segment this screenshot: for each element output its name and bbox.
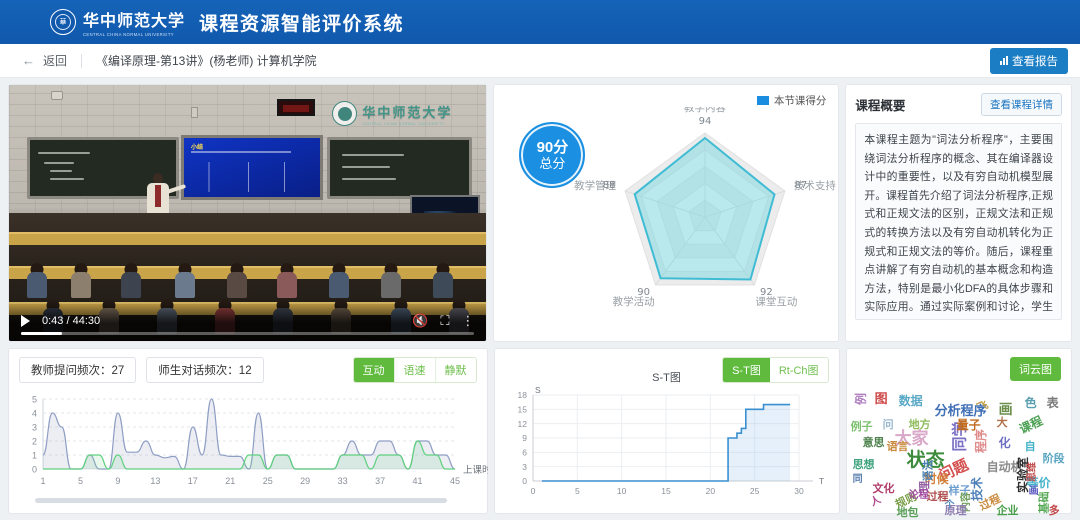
wordcloud-word: 大 (997, 417, 1008, 428)
svg-text:3: 3 (32, 423, 37, 433)
breadcrumb: 《编译原理-第13讲》(杨老师) 计算机学院 (96, 52, 317, 69)
wordcloud-word: 色 (1025, 397, 1037, 409)
projector-screen: 小结 (181, 135, 323, 200)
blackboard-right (327, 137, 472, 199)
score-label: 总分 (539, 156, 565, 171)
bottom-row: 教师提问频次：27 师生对话频次：12 互动 语速 静默 012345 1591… (8, 348, 1072, 514)
svg-text:94: 94 (699, 116, 712, 127)
svg-text:2: 2 (32, 437, 37, 447)
university-name-cn: 华中师范大学 (83, 11, 185, 30)
interaction-toolbar: 教师提问频次：27 师生对话频次：12 互动 语速 静默 (9, 349, 487, 383)
wordcloud-word: 文化 (873, 483, 895, 494)
video-watermark: 华中师范大学 CENTRAL CHINA NORMAL UNIVERSITY (332, 101, 452, 126)
university-name-en: CENTRAL CHINA NORMAL UNIVERSITY (83, 32, 185, 37)
svg-text:S: S (535, 385, 541, 395)
seal-inner-glyph: 華 (55, 14, 71, 30)
wordcloud-word: 企业 (997, 505, 1019, 516)
svg-text:12: 12 (517, 419, 527, 429)
legend-color-swatch (757, 96, 769, 105)
volume-muted-icon[interactable]: 🔇 (412, 313, 428, 329)
arrow-left-icon[interactable]: ← (22, 53, 35, 68)
stat-dialogues: 师生对话频次：12 (146, 357, 263, 383)
svg-text:30: 30 (794, 486, 804, 496)
svg-text:18: 18 (517, 390, 527, 400)
wordcloud-word: 例 (855, 393, 867, 405)
wordcloud-word: 数据 (899, 395, 923, 407)
wordcloud-word: 化 (999, 437, 1011, 449)
radar-legend[interactable]: 本节课得分 (757, 93, 827, 108)
svg-text:0: 0 (530, 486, 535, 496)
wordcloud-word: 人 (869, 495, 882, 508)
wordcloud-word: 意思 (863, 437, 885, 448)
video-time-display: 0:43 / 44:30 (42, 315, 100, 327)
wordcloud-word: 图 (875, 393, 888, 406)
svg-text:90: 90 (638, 287, 651, 298)
led-display (277, 99, 315, 116)
chart-horizontal-scrollbar[interactable] (35, 498, 447, 503)
wordcloud-word: 思想 (853, 459, 875, 470)
video-controls[interactable]: 0:43 / 44:30 🔇 ⛶ ⋮ (9, 301, 486, 341)
wordcloud-word: 技术 (971, 477, 983, 501)
wordcloud-word: 语法 (922, 460, 933, 482)
svg-text:29: 29 (300, 476, 310, 486)
app-header: 華 华中师范大学 CENTRAL CHINA NORMAL UNIVERSITY… (0, 0, 1080, 44)
svg-text:9: 9 (522, 433, 527, 443)
radar-chart-card: 本节课得分 90分 总分 教学内容94技术支持87课堂互动92教学活动90教学管… (493, 84, 839, 342)
wordcloud-area: 状态大家同学问题分析程序自动机时候实验室量子数据课程画技术等价思想例子图例问地方… (847, 379, 1076, 513)
legend-label: 本节课得分 (774, 93, 827, 108)
svg-text:4: 4 (32, 409, 37, 419)
svg-text:10: 10 (616, 486, 626, 496)
svg-text:45: 45 (450, 476, 460, 486)
svg-text:上课时间: 上课时间 (463, 464, 488, 476)
svg-text:6: 6 (522, 448, 527, 458)
svg-text:13: 13 (150, 476, 160, 486)
wordcloud-word: 地方 (909, 419, 931, 430)
svg-text:1: 1 (40, 476, 45, 486)
wordcloud-word: 阶段 (1043, 453, 1065, 464)
wordcloud-word: 例子 (851, 421, 873, 432)
summary-body[interactable]: 本课程主题为"词法分析程序"，主要围绕词法分析程序的概念、其在编译器设计中的重要… (855, 123, 1062, 320)
wordcloud-word: 程序 (975, 429, 987, 453)
svg-text:21: 21 (225, 476, 235, 486)
university-seal-icon: 華 (50, 9, 76, 35)
svg-text:0: 0 (32, 465, 37, 475)
slide-title: 小结 (191, 142, 203, 151)
tab-silence[interactable]: 静默 (436, 358, 476, 382)
svg-text:20: 20 (705, 486, 715, 496)
summary-text: 本课程主题为"词法分析程序"，主要围绕词法分析程序的概念、其在编译器设计中的重要… (864, 131, 1053, 320)
top-row: 小结 (8, 84, 1072, 342)
wordcloud-word: 思维 (1028, 462, 1038, 482)
svg-text:5: 5 (574, 486, 579, 496)
back-button[interactable]: 返回 (43, 52, 67, 69)
wordcloud-word: 画 (999, 403, 1013, 417)
interaction-chart-card: 教师提问频次：27 师生对话频次：12 互动 语速 静默 012345 1591… (8, 348, 488, 514)
svg-text:9: 9 (115, 476, 120, 486)
watermark-name-cn: 华中师范大学 (362, 106, 452, 121)
wordcloud-word: 同 (853, 475, 863, 485)
svg-text:T: T (819, 476, 824, 486)
dashboard-stage: 小结 (0, 78, 1080, 520)
app-title: 课程资源智能评价系统 (199, 9, 404, 36)
wordcloud-word: 多 (1049, 505, 1060, 516)
divider (81, 54, 82, 68)
svg-text:教学内容: 教学内容 (684, 107, 726, 114)
radar-chart-svg: 教学内容94技术支持87课堂互动92教学活动90教学管理88 (574, 107, 836, 333)
svg-text:37: 37 (375, 476, 385, 486)
st-chart-svg: 0369121518 051015202530ST (499, 383, 841, 507)
wordcloud-word: 基础 (1038, 492, 1049, 514)
video-player-card[interactable]: 小结 (8, 84, 487, 342)
ceiling-camera-icon (51, 91, 63, 100)
sub-toolbar: ← 返回 《编译原理-第13讲》(杨老师) 计算机学院 查看报告 (0, 44, 1080, 78)
wordcloud-word: 论程 (909, 491, 929, 501)
svg-text:87: 87 (795, 180, 808, 191)
svg-text:41: 41 (413, 476, 423, 486)
bar-chart-icon (1000, 56, 1008, 65)
svg-text:0: 0 (522, 476, 527, 486)
view-report-label: 查看报告 (1012, 53, 1058, 69)
interaction-chart-svg: 012345 159131721252933374145上课时间 (15, 391, 488, 497)
wordcloud-word: 地包 (897, 507, 919, 518)
wordcloud-card: 词云图 状态大家同学问题分析程序自动机时候实验室量子数据课程画技术等价思想例子图… (846, 348, 1072, 514)
svg-text:15: 15 (517, 405, 527, 415)
interaction-tabs[interactable]: 互动 语速 静默 (353, 357, 477, 383)
classroom-video[interactable]: 小结 (9, 85, 486, 341)
svg-text:17: 17 (188, 476, 198, 486)
fullscreen-icon[interactable]: ⛶ (440, 313, 449, 329)
wordcloud-word: 个 (945, 501, 955, 511)
wordcloud-word: 画 (1029, 487, 1039, 497)
svg-text:5: 5 (32, 395, 37, 405)
svg-text:25: 25 (749, 486, 759, 496)
svg-text:25: 25 (263, 476, 273, 486)
wordcloud-word: 课程 (1017, 414, 1044, 435)
wordcloud-word: 表 (1047, 397, 1059, 409)
svg-text:5: 5 (78, 476, 83, 486)
summary-header: 课程概要 查看课程详情 (855, 93, 1062, 116)
wordcloud-word: 语言 (887, 441, 909, 452)
svg-text:1: 1 (32, 451, 37, 461)
st-chart-card: S-T图 Rt-Ch图 S-T图 0369121518 051015202530… (494, 348, 840, 514)
svg-text:3: 3 (522, 462, 527, 472)
tab-speech-rate[interactable]: 语速 (395, 358, 436, 382)
video-progress-bar[interactable] (21, 332, 474, 335)
score-value: 90分 (537, 140, 569, 156)
more-options-icon[interactable]: ⋮ (461, 313, 474, 329)
wall-sensor-icon (191, 107, 198, 118)
tab-interaction[interactable]: 互动 (354, 358, 395, 382)
play-icon[interactable] (21, 315, 30, 327)
watermark-seal-icon (332, 101, 357, 126)
stat-teacher-questions: 教师提问频次：27 (19, 357, 136, 383)
view-report-button[interactable]: 查看报告 (990, 48, 1068, 74)
watermark-name-en: CENTRAL CHINA NORMAL UNIVERSITY (362, 122, 452, 126)
view-course-detail-button[interactable]: 查看课程详情 (981, 93, 1062, 116)
svg-text:92: 92 (760, 287, 773, 298)
svg-text:88: 88 (603, 180, 616, 191)
wordcloud-word: 问 (883, 419, 894, 430)
wordcloud-word: 自 (1025, 441, 1036, 452)
university-logo: 華 华中师范大学 CENTRAL CHINA NORMAL UNIVERSITY (50, 7, 185, 37)
course-summary-card: 课程概要 查看课程详情 本课程主题为"词法分析程序"，主要围绕词法分析程序的概念… (845, 84, 1072, 342)
wordcloud-button[interactable]: 词云图 (1010, 357, 1061, 381)
summary-title: 课程概要 (855, 95, 905, 114)
svg-text:15: 15 (661, 486, 671, 496)
svg-text:33: 33 (338, 476, 348, 486)
